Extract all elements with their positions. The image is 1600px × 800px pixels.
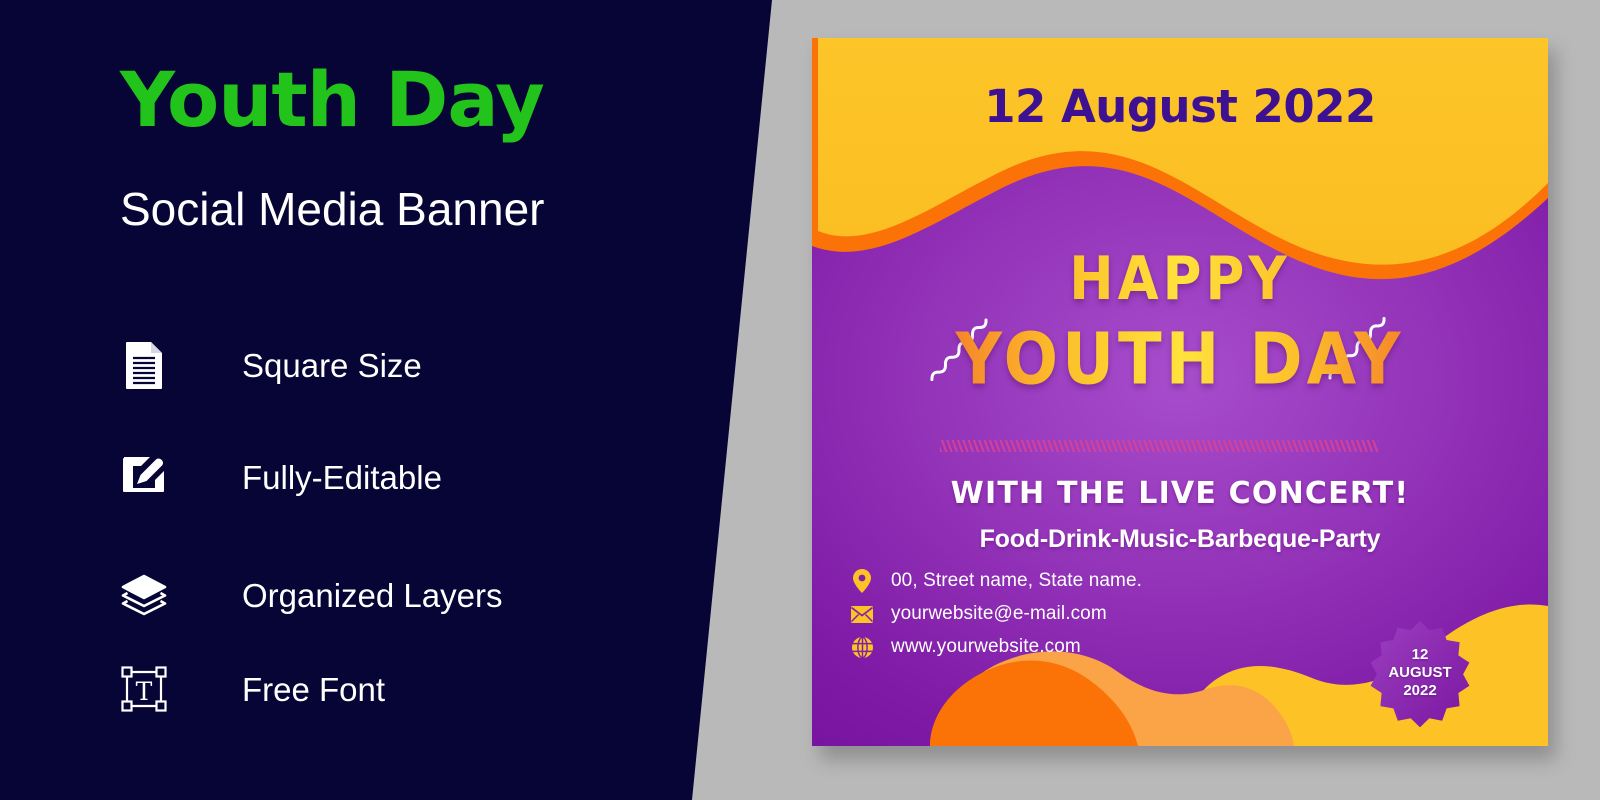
badge-day: 12 — [1412, 646, 1429, 664]
page-title: Youth Day — [120, 62, 544, 138]
badge-month: AUGUST — [1388, 664, 1451, 682]
feature-label: Organized Layers — [242, 579, 502, 612]
poster-preview[interactable]: 12 August 2022 HAPPY YOUTH DAY WITH THE … — [812, 38, 1548, 746]
svg-text:T: T — [136, 677, 153, 706]
contact-info-list: 00, Street name, State name. yourwebsite… — [847, 565, 1142, 664]
globe-icon — [847, 637, 877, 658]
left-panel-content: Youth Day Social Media Banner — [120, 0, 740, 800]
feature-item-free-font: T Free Font — [120, 664, 385, 714]
page-subtitle: Social Media Banner — [120, 186, 544, 232]
headline-line-2: YOUTH DAY — [812, 324, 1548, 396]
contact-text: www.yourwebsite.com — [891, 636, 1081, 658]
poster-tagline: Food-Drink-Music-Barbeque-Party — [812, 525, 1548, 554]
feature-label: Free Font — [242, 673, 385, 706]
date-badge-text: 12 AUGUST 2022 — [1366, 619, 1474, 727]
poster-subheadline: WITH THE LIVE CONCERT! — [812, 476, 1548, 511]
headline-line-1: HAPPY — [812, 250, 1548, 309]
contact-text: 00, Street name, State name. — [891, 570, 1142, 592]
badge-year: 2022 — [1403, 682, 1436, 700]
contact-row-email[interactable]: yourwebsite@e-mail.com — [847, 598, 1142, 630]
poster-headline: HAPPY YOUTH DAY — [812, 253, 1548, 392]
layers-icon — [120, 570, 168, 620]
contact-row-website[interactable]: www.yourwebsite.com — [847, 631, 1142, 663]
document-icon — [120, 340, 168, 390]
feature-item-fully-editable: Fully-Editable — [120, 452, 442, 502]
location-pin-icon — [847, 569, 877, 593]
poster-date-banner: 12 August 2022 — [812, 80, 1548, 133]
contact-text: yourwebsite@e-mail.com — [891, 603, 1107, 625]
feature-label: Fully-Editable — [242, 461, 442, 494]
feature-item-organized-layers: Organized Layers — [120, 570, 502, 620]
edit-pencil-icon — [120, 452, 168, 502]
feature-item-square-size: Square Size — [120, 340, 422, 390]
striped-divider — [940, 440, 1378, 452]
left-info-panel: Youth Day Social Media Banner — [0, 0, 790, 800]
date-badge: 12 AUGUST 2022 — [1366, 619, 1474, 727]
text-frame-icon: T — [120, 664, 168, 714]
contact-row-address: 00, Street name, State name. — [847, 565, 1142, 597]
envelope-icon — [847, 606, 877, 623]
feature-label: Square Size — [242, 349, 422, 382]
yellow-wave-top — [818, 38, 1548, 265]
